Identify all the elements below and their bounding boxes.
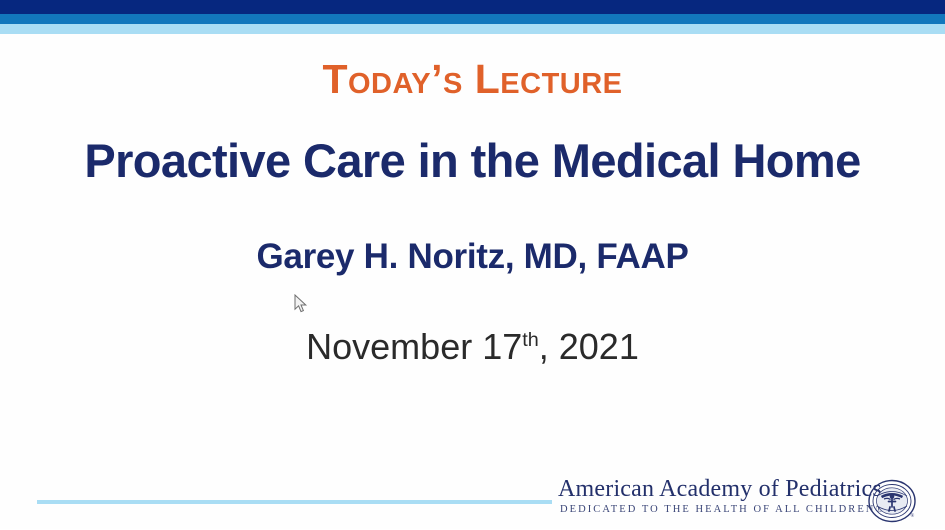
top-band-navy (0, 0, 945, 14)
date-year: , 2021 (539, 326, 639, 367)
aap-seal-icon: ® (868, 477, 916, 525)
aap-tagline: DEDICATED TO THE HEALTH OF ALL CHILDREN® (560, 504, 870, 515)
mouse-cursor (294, 294, 308, 314)
svg-text:®: ® (911, 513, 915, 519)
date-ordinal-suffix: th (522, 329, 539, 351)
footer-divider-rule (37, 500, 552, 504)
date-main: November 17 (306, 326, 522, 367)
top-band-light-blue (0, 24, 945, 34)
top-band-blue (0, 14, 945, 24)
slide-date: November 17th, 2021 (0, 327, 945, 367)
slide-kicker: Today’s Lecture (0, 58, 945, 101)
aap-logo-lockup: American Academy of Pediatrics DEDICATED… (558, 474, 945, 529)
presentation-slide: Today’s Lecture Proactive Care in the Me… (0, 0, 945, 529)
slide-title: Proactive Care in the Medical Home (0, 135, 945, 187)
presenter-name: Garey H. Noritz, MD, FAAP (0, 238, 945, 277)
aap-organization-name: American Academy of Pediatrics (558, 476, 863, 503)
